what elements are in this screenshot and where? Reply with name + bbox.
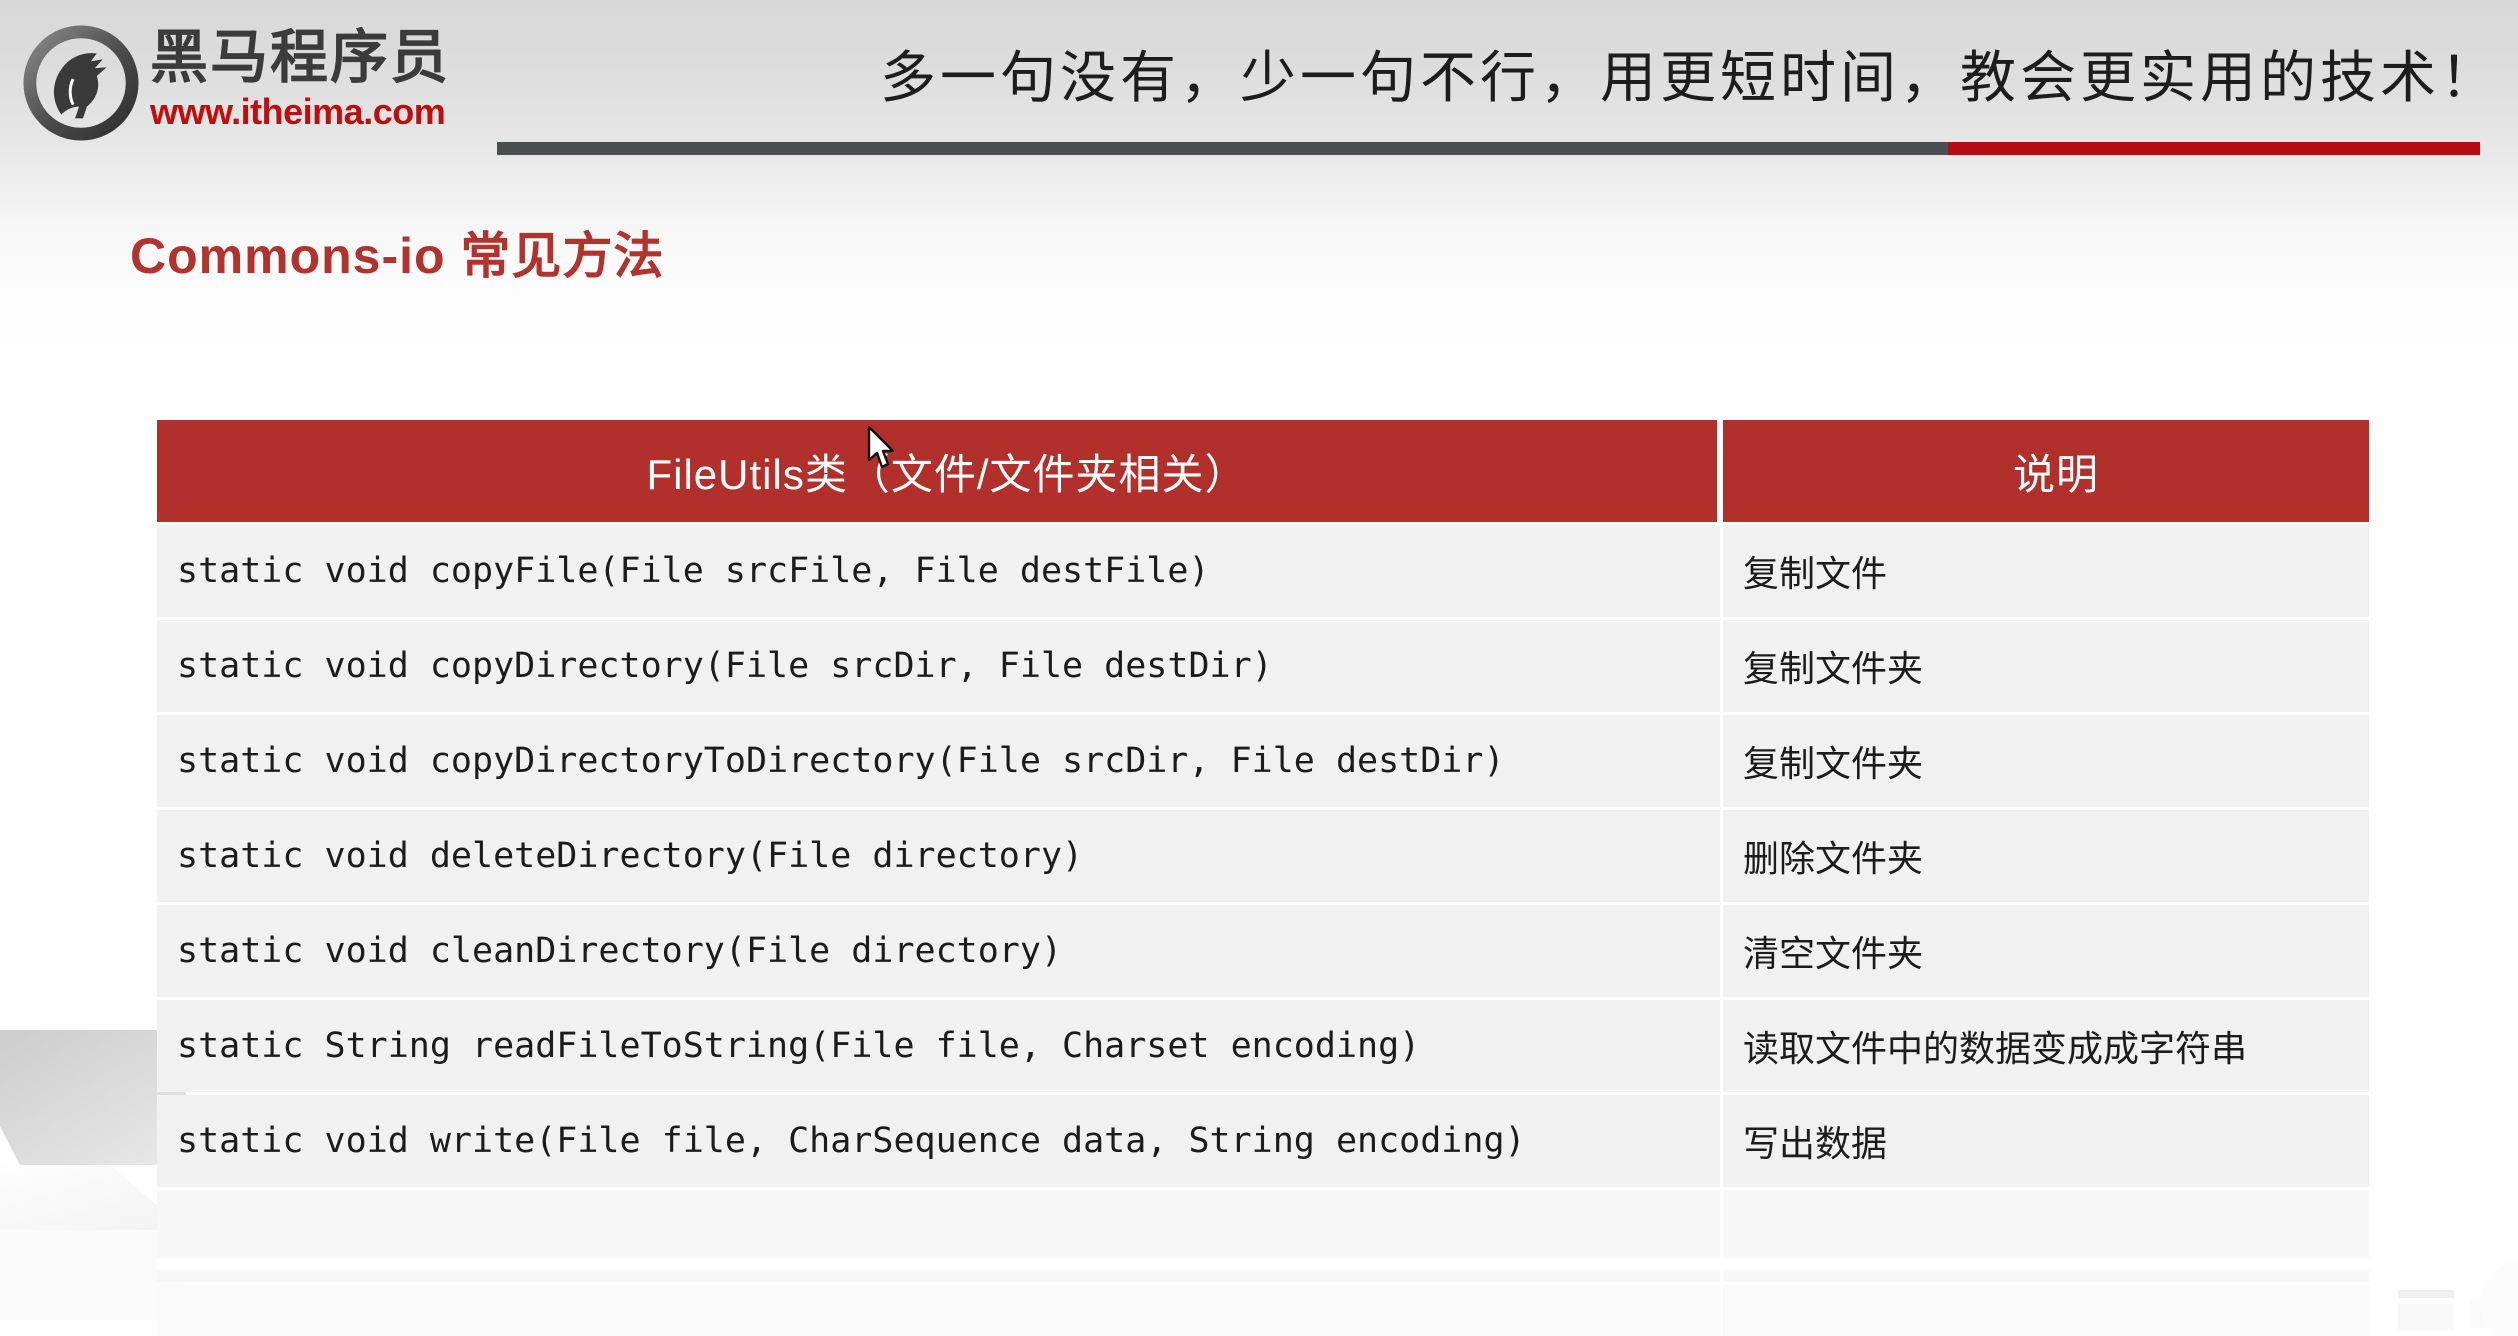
table-row[interactable]: static void cleanDirectory(File director… xyxy=(157,905,2369,997)
column-header-description: 说明 xyxy=(1720,420,2369,522)
horse-head-circle-icon xyxy=(22,24,140,142)
cell-description: 删除文件夹 xyxy=(1720,810,2369,902)
cell-method: static String readFileToString(File file… xyxy=(157,1000,1720,1092)
header-tagline: 多一句没有，少一句不行，用更短时间，教会更实用的技术！ xyxy=(880,46,2480,112)
column-header-method: FileUtils类（文件/文件夹相关） xyxy=(157,420,1720,522)
table-row[interactable]: static void copyDirectoryToDirectory(Fil… xyxy=(157,715,2369,807)
page-title: Commons-io 常见方法 xyxy=(130,216,664,288)
cell-description: 复制文件夹 xyxy=(1720,620,2369,712)
cell-description: 清空文件夹 xyxy=(1720,905,2369,997)
cell-method: static void cleanDirectory(File director… xyxy=(157,905,1720,997)
brand-logo: 黑马程序员 www.itheima.com xyxy=(22,14,482,154)
cell-method: static void copyFile(File srcFile, File … xyxy=(157,525,1720,617)
brand-name-cn: 黑马程序员 xyxy=(150,26,480,90)
cell-description: 写出数据 xyxy=(1720,1095,2369,1187)
slide-header: 黑马程序员 www.itheima.com 多一句没有，少一句不行，用更短时间，… xyxy=(0,0,2518,170)
cell-description xyxy=(1720,1285,2369,1336)
table-row[interactable]: static void write(File file, CharSequenc… xyxy=(157,1095,2369,1187)
cell-method: static void copyDirectoryToDirectory(Fil… xyxy=(157,715,1720,807)
cell-method: static void copyDirectory(File srcDir, F… xyxy=(157,620,1720,712)
slide-canvas: 黑马程序员 www.itheima.com 多一句没有，少一句不行，用更短时间，… xyxy=(0,0,2518,1336)
table-row[interactable]: static String readFileToString(File file… xyxy=(157,1000,2369,1092)
cell-method: static void deleteDirectory(File directo… xyxy=(157,810,1720,902)
cell-description: 复制文件 xyxy=(1720,525,2369,617)
table-row[interactable]: static void copyDirectory(File srcDir, F… xyxy=(157,620,2369,712)
table-row[interactable]: static void deleteDirectory(File directo… xyxy=(157,810,2369,902)
brand-url: www.itheima.com xyxy=(150,92,480,132)
table-row[interactable]: static void copyFile(File srcFile, File … xyxy=(157,525,2369,617)
header-rule-dark xyxy=(497,142,1948,155)
table-header-row: FileUtils类（文件/文件夹相关） 说明 xyxy=(157,420,2369,522)
cell-description: 读取文件中的数据变成成字符串 xyxy=(1720,1000,2369,1092)
cell-method xyxy=(157,1285,1720,1336)
fileutils-methods-table: FileUtils类（文件/文件夹相关） 说明 static void copy… xyxy=(157,420,2369,1336)
cell-description: 复制文件夹 xyxy=(1720,715,2369,807)
table-separator-band xyxy=(157,1258,2369,1270)
table-row[interactable] xyxy=(157,1285,2369,1336)
header-rule-red xyxy=(1948,142,2480,155)
brand-logo-text: 黑马程序员 www.itheima.com xyxy=(150,26,480,132)
cell-method: static void write(File file, CharSequenc… xyxy=(157,1095,1720,1187)
